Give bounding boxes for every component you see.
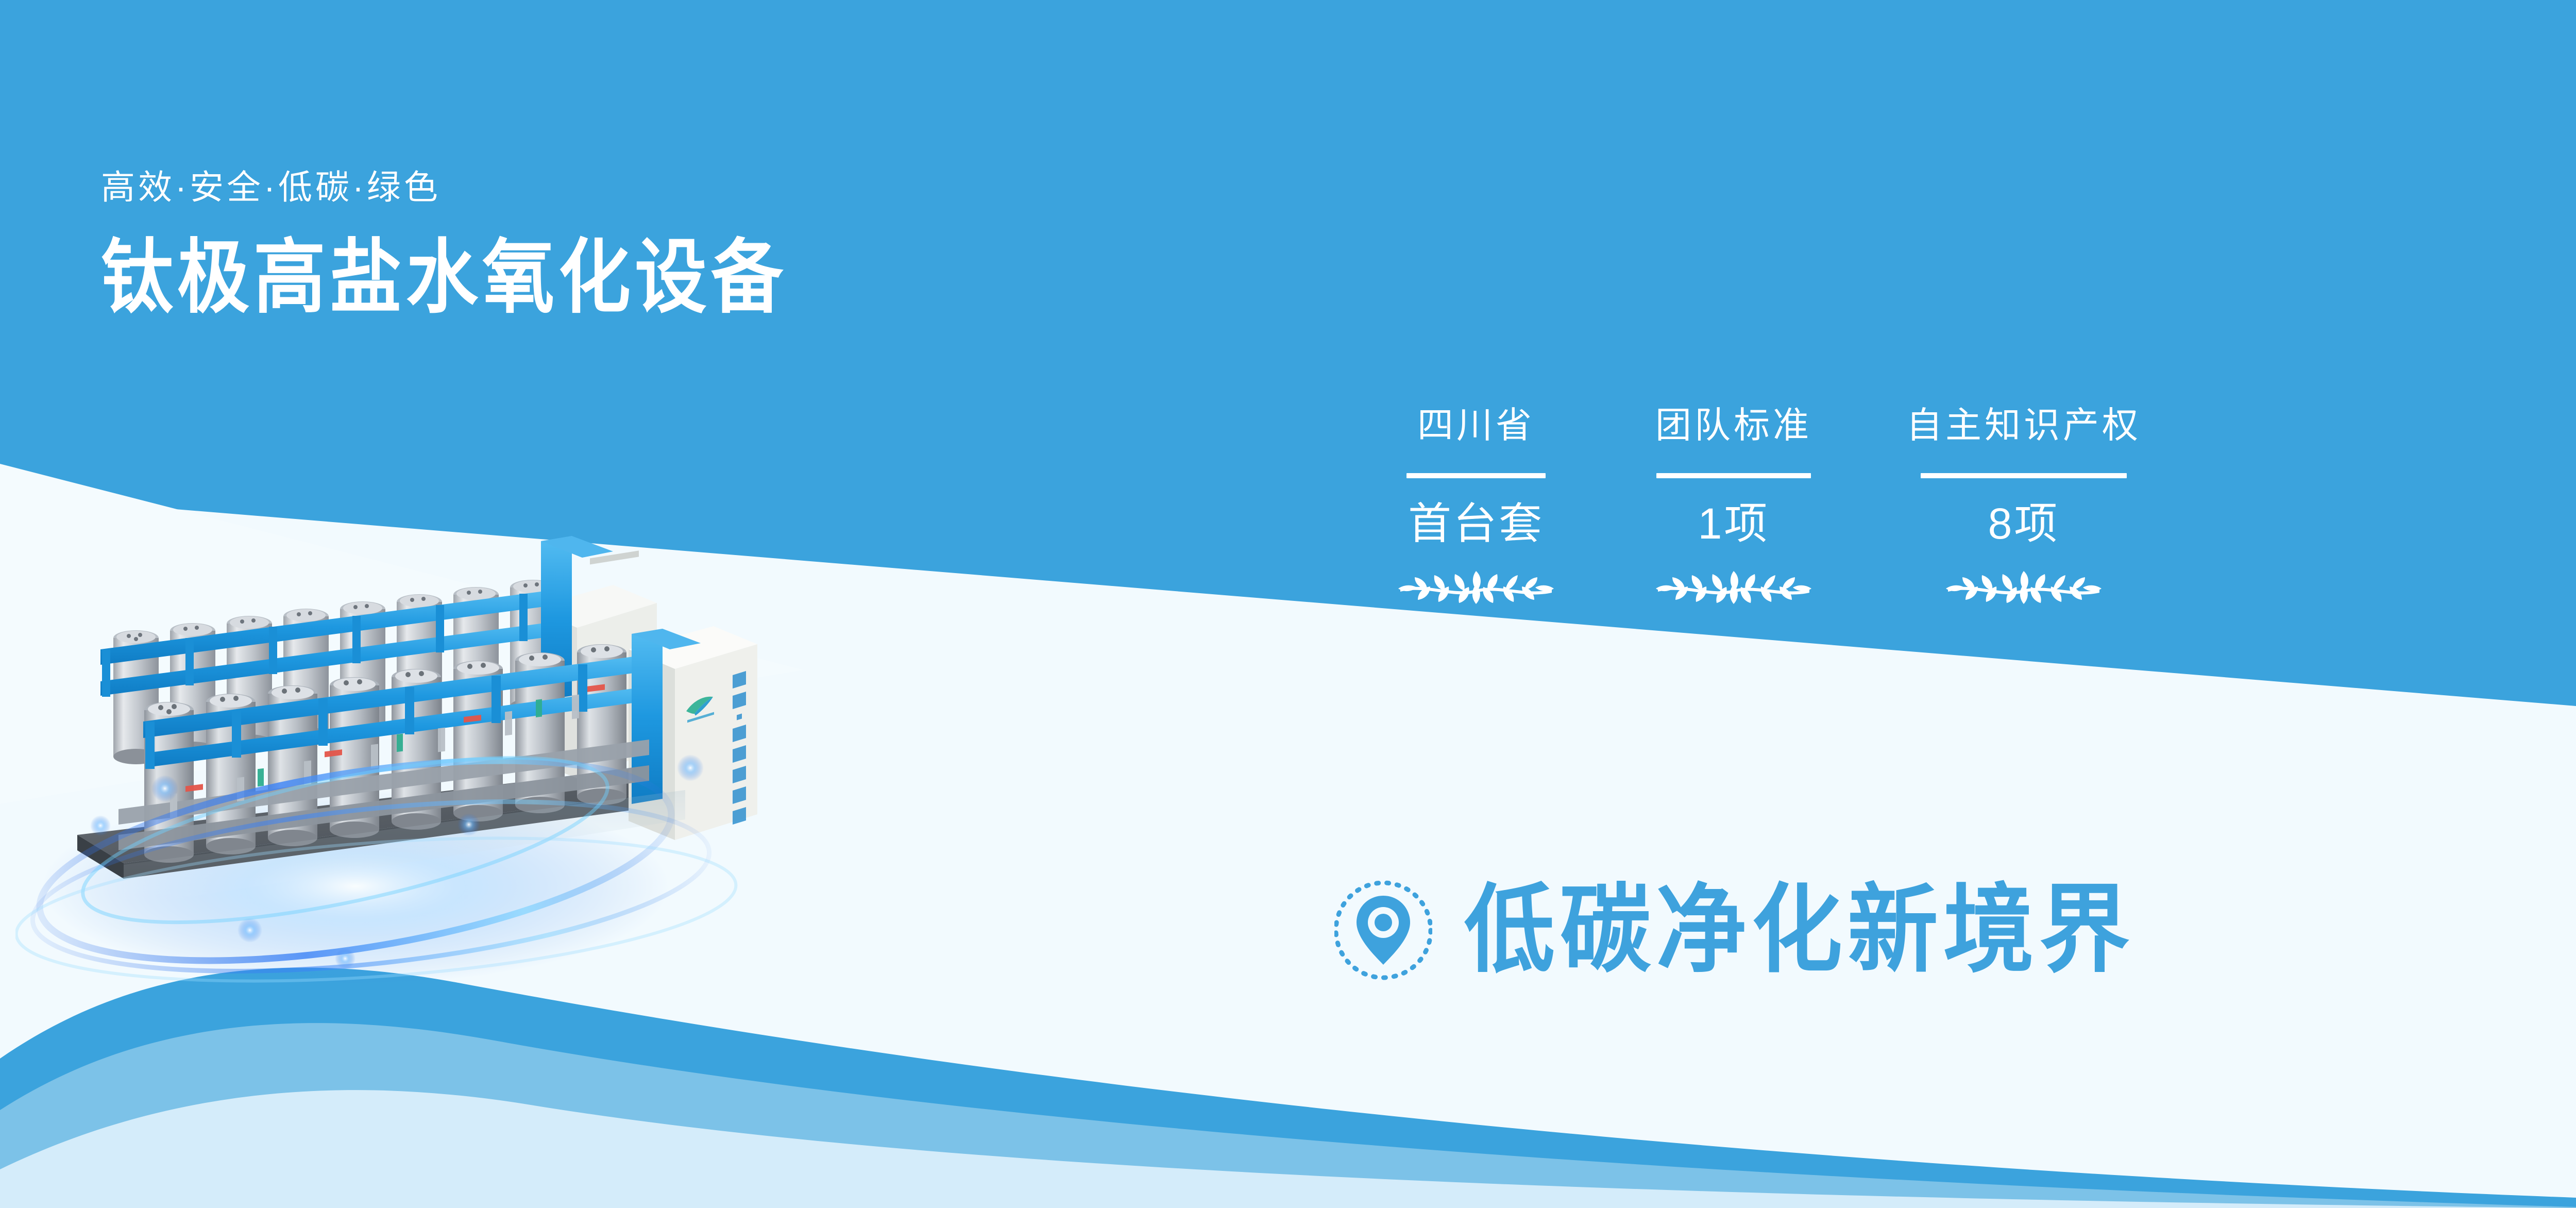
stat-label: 自主知识产权 xyxy=(1906,407,2141,443)
stat-item-ip-rights: 自主知识产权 8项 xyxy=(1906,407,2141,606)
stat-divider xyxy=(1921,473,2127,478)
laurel-ornament-icon xyxy=(1391,567,1561,606)
stat-item-sichuan: 四川省 首台套 xyxy=(1391,407,1561,606)
hero-eyebrow: 高效·安全·低碳·绿色 xyxy=(101,170,787,204)
promo-banner: 高效·安全·低碳·绿色 钛极高盐水氧化设备 四川省 首台套 xyxy=(0,0,2576,1208)
stat-value: 1项 xyxy=(1698,502,1770,545)
equipment-illustration xyxy=(15,479,850,995)
stat-value: 8项 xyxy=(1988,502,2060,545)
stat-label: 团队标准 xyxy=(1655,407,1812,443)
stat-value: 首台套 xyxy=(1408,502,1544,545)
stat-label: 四川省 xyxy=(1417,407,1535,443)
tagline-text: 低碳净化新境界 xyxy=(1464,882,2135,979)
laurel-ornament-icon xyxy=(1939,567,2109,606)
hero-headline: 钛极高盐水氧化设备 xyxy=(101,237,787,318)
hero-text-block: 高效·安全·低碳·绿色 钛极高盐水氧化设备 xyxy=(101,170,787,309)
stats-row: 四川省 首台套 xyxy=(1391,407,2141,606)
stat-divider xyxy=(1406,473,1546,478)
stat-item-team-standard: 团队标准 1项 xyxy=(1649,407,1819,606)
location-pin-icon xyxy=(1334,876,1432,984)
stat-divider xyxy=(1656,473,1811,478)
laurel-ornament-icon xyxy=(1649,567,1819,606)
tagline-block: 低碳净化新境界 xyxy=(1334,876,2135,984)
